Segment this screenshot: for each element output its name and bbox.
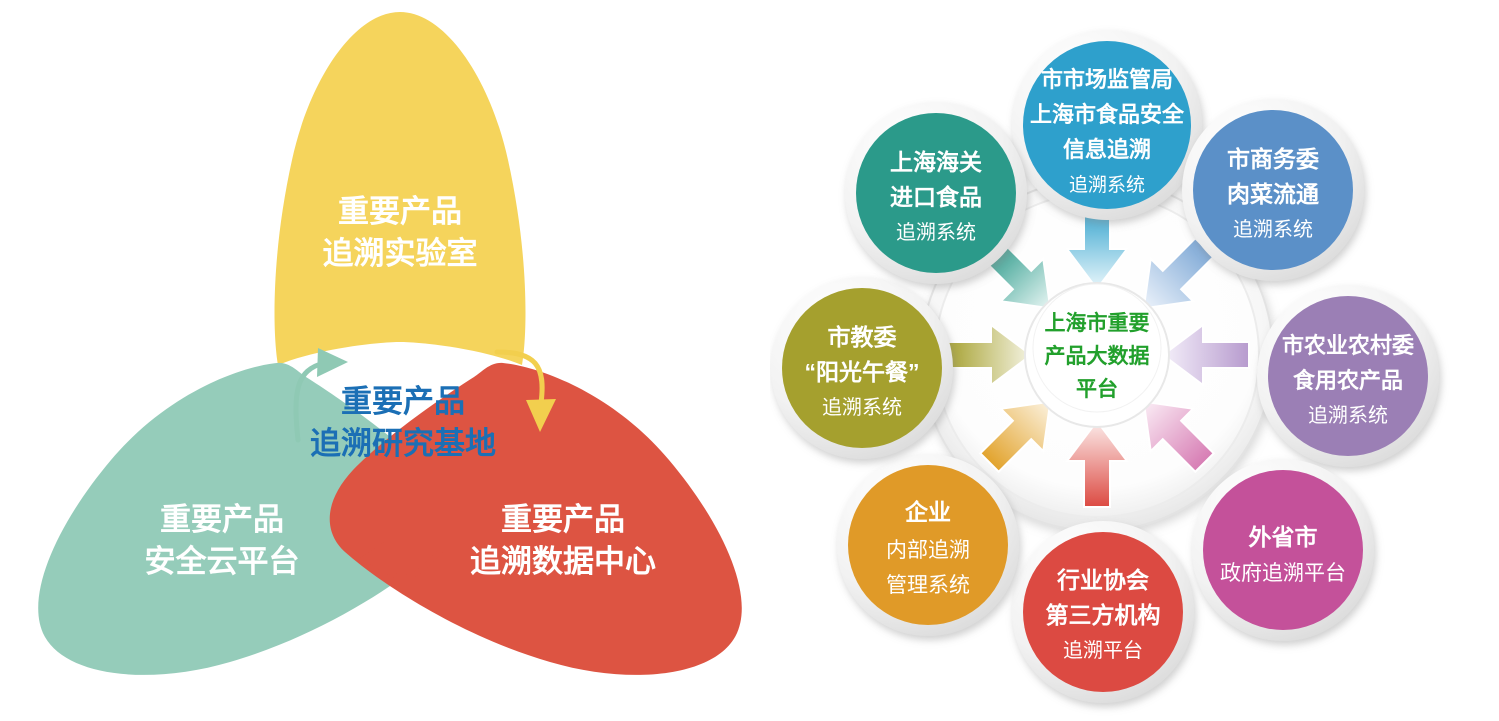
right-diagram-panel: 上海市重要 产品大数据 平台 市市场监管局 上海市食品安全 信息追溯 追溯系统 …	[770, 0, 1499, 721]
hub-center-line2: 产品大数据	[1045, 344, 1150, 368]
node-industry-association-sub: 追溯平台	[1063, 639, 1143, 662]
hub-center-line3: 平台	[1076, 377, 1118, 401]
trefoil-svg: 重要产品 追溯实验室 重要产品 安全云平台 重要产品 追溯数据中心	[0, 0, 780, 721]
node-enterprise-sub2: 管理系统	[886, 574, 970, 597]
node-enterprise-line1: 企业	[904, 499, 951, 525]
node-shanghai-customs-line2: 进口食品	[890, 184, 982, 210]
petal-data-center-line2: 追溯数据中心	[470, 544, 656, 579]
node-shanghai-customs-sub: 追溯系统	[896, 221, 976, 244]
node-market-supervision[interactable]: 市市场监管局 上海市食品安全 信息追溯 追溯系统	[1012, 30, 1202, 220]
node-enterprise-sub1: 内部追溯	[886, 539, 970, 562]
node-enterprise[interactable]: 企业 内部追溯 管理系统	[837, 454, 1019, 636]
petal-lab-line1: 重要产品	[338, 194, 462, 229]
left-diagram-panel: 重要产品 追溯实验室 重要产品 安全云平台 重要产品 追溯数据中心	[0, 0, 780, 721]
node-industry-association-line1: 行业协会	[1056, 567, 1149, 593]
petal-cloud-platform-line2: 安全云平台	[145, 544, 300, 579]
petal-cloud-platform-line1: 重要产品	[160, 502, 284, 537]
node-commerce-commission-line1: 市商务委	[1227, 146, 1319, 172]
petal-lab-shape	[275, 12, 526, 365]
node-industry-association-line2: 第三方机构	[1046, 602, 1161, 628]
node-other-provinces-line1: 外省市	[1249, 524, 1318, 550]
petal-lab-line2: 追溯实验室	[323, 236, 478, 271]
node-market-supervision-line1: 市市场监管局	[1041, 67, 1173, 92]
arrow-green-head	[317, 348, 348, 377]
node-market-supervision-line2: 上海市食品安全	[1030, 102, 1185, 127]
hub-svg: 上海市重要 产品大数据 平台 市市场监管局 上海市食品安全 信息追溯 追溯系统 …	[770, 0, 1499, 721]
node-other-provinces-sub: 政府追溯平台	[1220, 562, 1346, 585]
node-education-commission-line1: 市教委	[828, 324, 897, 350]
node-education-commission-line2: “阳光午餐”	[805, 359, 920, 385]
node-shanghai-customs[interactable]: 上海海关 进口食品 追溯系统	[845, 102, 1027, 284]
node-other-provinces-face	[1203, 470, 1363, 630]
hub-center-line1: 上海市重要	[1045, 311, 1150, 335]
node-market-supervision-sub: 追溯系统	[1069, 174, 1145, 196]
node-agriculture-commission-line1: 市农业农村委	[1282, 333, 1414, 358]
node-commerce-commission-line2: 肉菜流通	[1227, 181, 1319, 207]
diagram-stage: 重要产品 追溯实验室 重要产品 安全云平台 重要产品 追溯数据中心	[0, 0, 1499, 721]
node-agriculture-commission[interactable]: 市农业农村委 食用农产品 追溯系统	[1257, 285, 1439, 467]
node-industry-association[interactable]: 行业协会 第三方机构 追溯平台	[1012, 521, 1194, 703]
node-commerce-commission-sub: 追溯系统	[1233, 218, 1313, 241]
petal-lab[interactable]: 重要产品 追溯实验室	[275, 12, 526, 365]
trefoil-center-line1: 重要产品	[341, 384, 465, 419]
petal-data-center-line1: 重要产品	[501, 502, 625, 537]
node-agriculture-commission-sub: 追溯系统	[1308, 404, 1388, 427]
node-agriculture-commission-line2: 食用农产品	[1293, 368, 1403, 393]
node-education-commission[interactable]: 市教委 “阳光午餐” 追溯系统	[771, 277, 953, 459]
node-market-supervision-line3: 信息追溯	[1063, 137, 1151, 162]
node-education-commission-sub: 追溯系统	[822, 396, 902, 419]
trefoil-center-line2: 追溯研究基地	[310, 426, 496, 461]
node-shanghai-customs-line1: 上海海关	[890, 149, 982, 175]
node-commerce-commission[interactable]: 市商务委 肉菜流通 追溯系统	[1182, 99, 1364, 281]
node-other-provinces[interactable]: 外省市 政府追溯平台	[1192, 459, 1374, 641]
